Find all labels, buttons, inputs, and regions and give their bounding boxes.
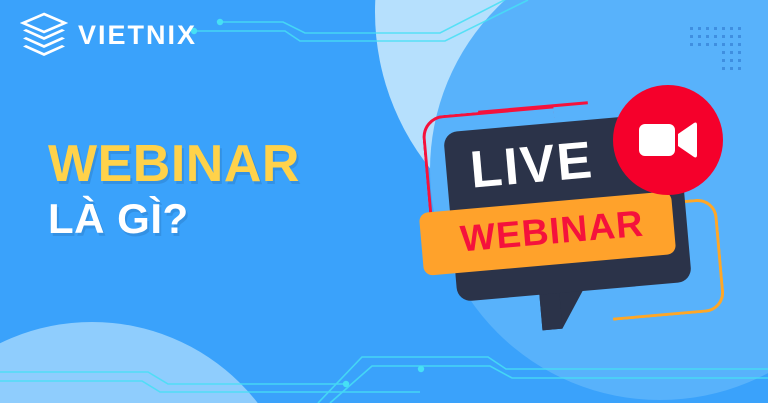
brand-logo[interactable]: VIETNIX <box>20 12 197 58</box>
headline-line-2: LÀ GÌ? <box>48 197 378 241</box>
stacked-layers-icon <box>20 12 68 58</box>
video-camera-icon <box>639 120 697 160</box>
live-webinar-artwork: LIVE WEBINAR <box>418 78 738 328</box>
live-badge <box>613 85 723 195</box>
webinar-promo-banner: VIETNIX WEBINAR LÀ GÌ? LIVE WEBINAR <box>0 0 768 403</box>
headline-line-1: WEBINAR <box>48 138 378 191</box>
page-title: WEBINAR LÀ GÌ? <box>48 138 378 241</box>
dot-grid-pattern-icon <box>690 27 752 79</box>
brand-name: VIETNIX <box>78 22 197 49</box>
